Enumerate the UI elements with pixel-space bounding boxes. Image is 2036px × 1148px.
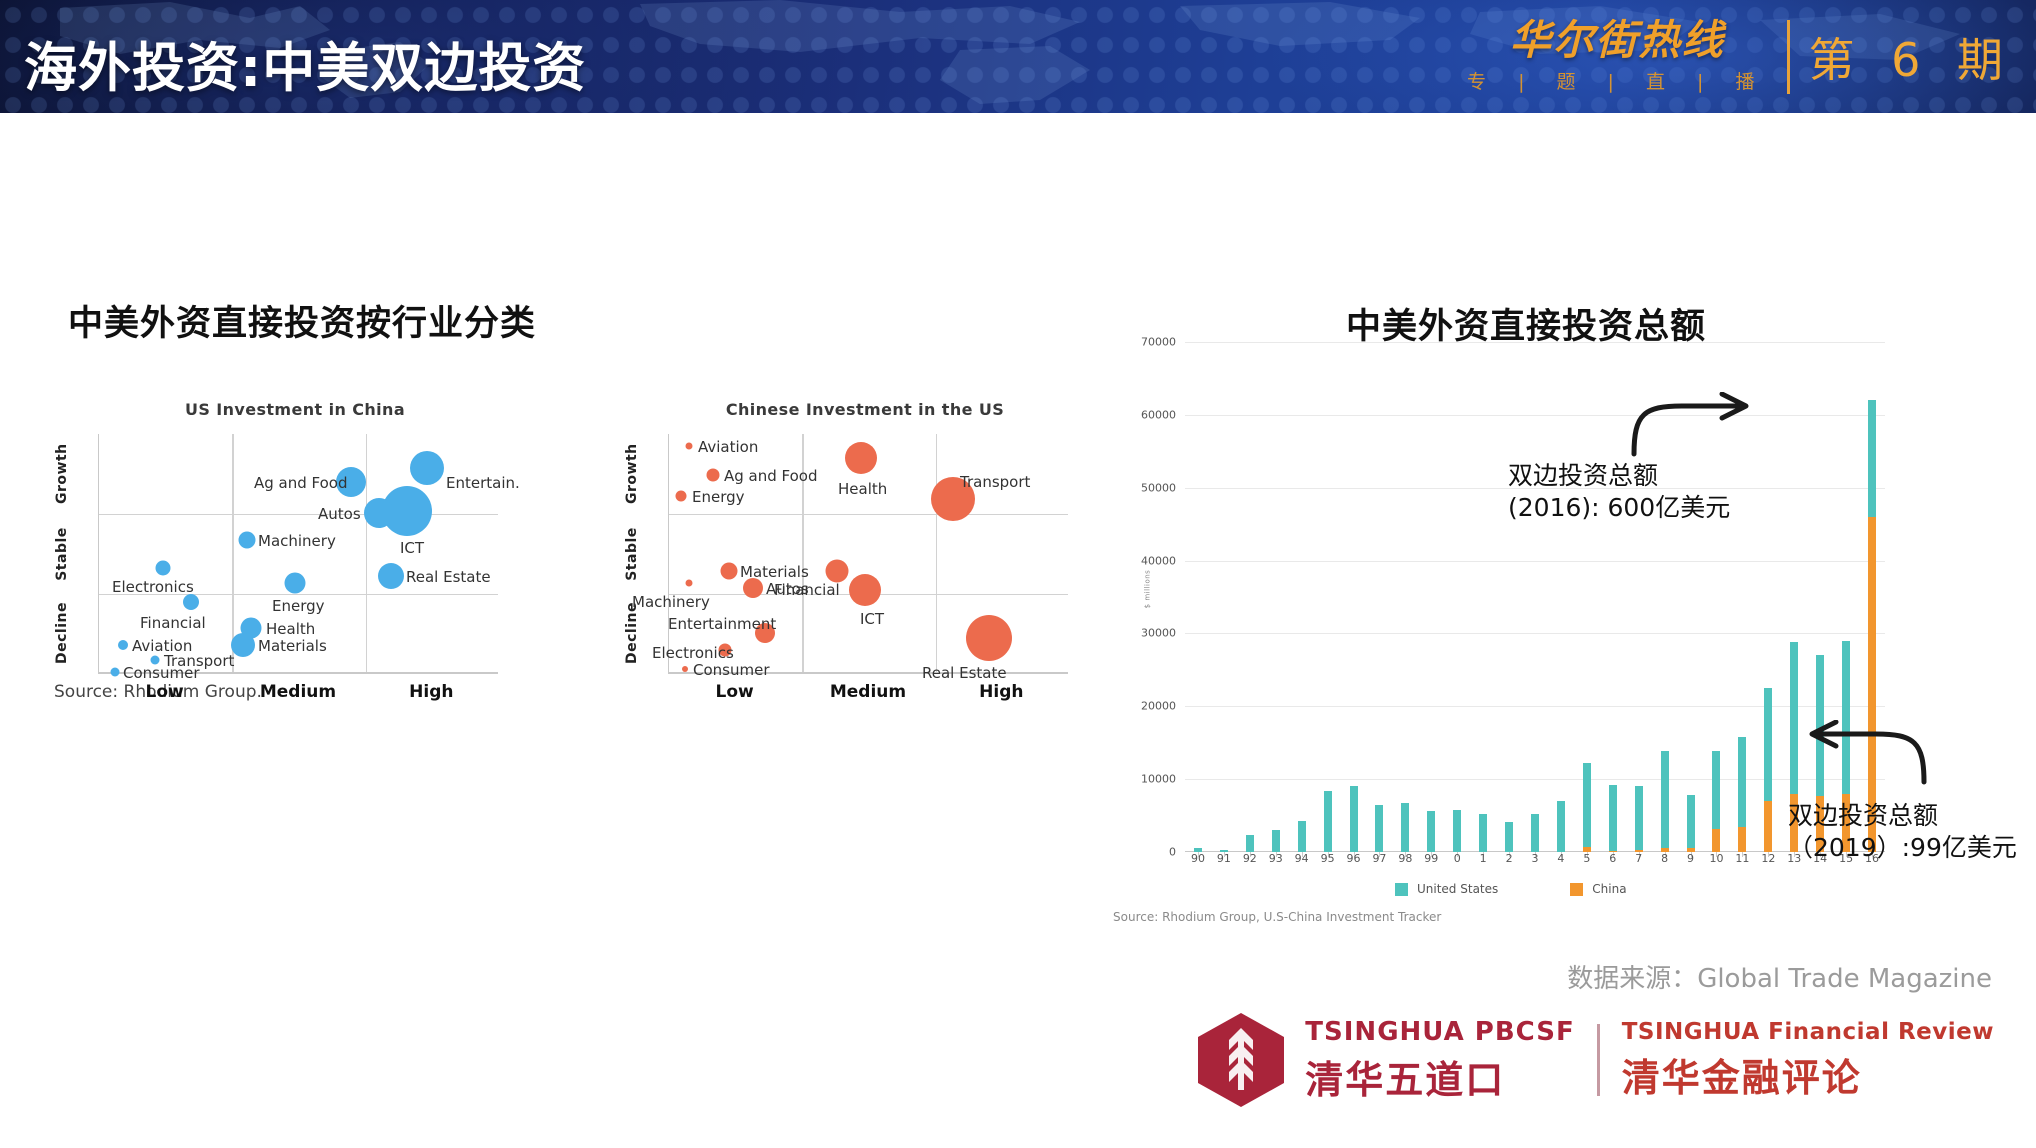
bar-segment-united-states — [1868, 400, 1876, 517]
logo-divider — [1597, 1024, 1600, 1096]
bubble-label: Materials — [740, 563, 809, 581]
x-axis-tick-label: 4 — [1557, 852, 1564, 865]
bubble-label: ICT — [860, 610, 884, 628]
brand-divider — [1787, 20, 1790, 94]
x-axis-tick-label: 90 — [1191, 852, 1205, 865]
footer-logos: TSINGHUA PBCSF 清华五道口 TSINGHUA Financial … — [1191, 1010, 1994, 1110]
bubble-label: Energy — [272, 597, 325, 615]
bar-segment-united-states — [1479, 814, 1487, 852]
pbcsf-cn: 清华五道口 — [1305, 1049, 1574, 1104]
brand-wordmark: 华尔街热线 专 | 题 | 直 | 播 — [1467, 20, 1767, 94]
bubble-label: Electronics — [112, 578, 194, 596]
x-axis-tick-label: 6 — [1609, 852, 1616, 865]
grid-line — [1185, 633, 1885, 634]
bar-segment-united-states — [1583, 763, 1591, 848]
grid-line-horizontal — [99, 514, 498, 515]
x-axis-tick-label: 92 — [1243, 852, 1257, 865]
legend-item-us: United States — [1395, 882, 1498, 896]
x-axis-tick-label: 9 — [1687, 852, 1694, 865]
x-axis-tick-label: 7 — [1635, 852, 1642, 865]
bubble-point — [285, 572, 306, 593]
y-axis-tick-label: 20000 — [1141, 700, 1176, 713]
bar-column — [1531, 814, 1539, 852]
bar-segment-united-states — [1350, 786, 1358, 852]
x-axis-tick-label: 1 — [1480, 852, 1487, 865]
bubble-point — [707, 468, 720, 481]
bar-segment-united-states — [1738, 737, 1746, 827]
chart-title: Chinese Investment in the US — [630, 400, 1100, 419]
bar-segment-united-states — [1246, 835, 1254, 852]
bar-column — [1661, 751, 1669, 852]
bar-plot-area: 0100002000030000400005000060000700009091… — [1185, 342, 1885, 852]
bubble-label: Financial — [140, 614, 206, 632]
bar-column — [1401, 803, 1409, 852]
legend-swatch-us — [1395, 883, 1408, 896]
chart-legend: United States China — [1395, 882, 1627, 896]
bubble-point — [966, 615, 1012, 661]
bubble-point — [364, 498, 394, 528]
x-axis-category-label: Medium — [801, 682, 934, 702]
bubble-label: Entertain. — [446, 474, 520, 492]
bubble-label: Ag and Food — [724, 467, 818, 485]
bar-column — [1375, 805, 1383, 852]
bubble-label: Health — [838, 480, 887, 498]
x-axis-tick-label: 12 — [1761, 852, 1775, 865]
bubble-label: Consumer — [693, 661, 770, 679]
bubble-label: Health — [266, 620, 315, 638]
footer-data-source: 数据来源：Global Trade Magazine — [1567, 958, 1992, 995]
x-axis-tick-label: 99 — [1424, 852, 1438, 865]
bubble-label: ICT — [400, 539, 424, 557]
bar-segment-united-states — [1453, 810, 1461, 852]
grid-line — [1185, 706, 1885, 707]
bar-segment-united-states — [1531, 814, 1539, 852]
bubble-label: Aviation — [698, 438, 758, 456]
bar-column — [1479, 814, 1487, 852]
bar-segment-united-states — [1427, 811, 1435, 852]
bubble-point — [156, 561, 171, 576]
bar-segment-united-states — [1272, 830, 1280, 852]
bubble-point — [231, 633, 255, 657]
x-axis-tick-label: 10 — [1709, 852, 1723, 865]
tsinghua-pbcsf-logo-icon — [1191, 1010, 1291, 1110]
bubble-point — [378, 563, 404, 589]
bar-column — [1583, 763, 1591, 852]
y-axis-category-label: Growth — [54, 444, 70, 504]
tfr-en: TSINGHUA Financial Review — [1622, 1019, 1994, 1045]
bubble-label: Electronics — [652, 644, 734, 662]
bubble-point — [682, 666, 688, 672]
annotation-peak-2016: 双边投资总额 (2016): 600亿美元 — [1508, 460, 1730, 523]
grid-line — [1185, 779, 1885, 780]
annotation-trough-2019: 双边投资总额 （2019）:99亿美元 — [1788, 800, 2017, 863]
tfr-wordmark: TSINGHUA Financial Review 清华金融评论 — [1622, 1019, 1994, 1102]
bubble-point — [410, 451, 444, 485]
chart-title: US Investment in China — [60, 400, 530, 419]
grid-line-vertical — [936, 434, 937, 674]
x-axis-tick-label: 91 — [1217, 852, 1231, 865]
bar-column — [1324, 791, 1332, 852]
x-axis-category-label: Low — [98, 682, 231, 702]
bubble-point — [845, 442, 877, 474]
grid-line — [1185, 415, 1885, 416]
bar-segment-united-states — [1557, 801, 1565, 852]
legend-item-china: China — [1570, 882, 1626, 896]
x-axis-tick-label: 2 — [1506, 852, 1513, 865]
bar-segment-united-states — [1505, 822, 1513, 852]
bar-column — [1557, 801, 1565, 852]
bubble-point — [676, 491, 687, 502]
bar-segment-china — [1712, 829, 1720, 852]
pbcsf-en: TSINGHUA PBCSF — [1305, 1017, 1574, 1047]
y-axis-tick-label: 10000 — [1141, 773, 1176, 786]
y-axis-tick-label: 60000 — [1141, 408, 1176, 421]
bar-segment-united-states — [1790, 642, 1798, 794]
bubble-label: Financial — [774, 581, 840, 599]
left-section-title: 中美外资直接投资按行业分类 — [68, 295, 536, 346]
bar-segment-united-states — [1712, 751, 1720, 828]
x-axis-category-label: Low — [668, 682, 801, 702]
bar-segment-united-states — [1687, 795, 1695, 847]
bubble-label: Transport — [960, 473, 1030, 491]
brand-lockup: 华尔街热线 专 | 题 | 直 | 播 第 6 期 — [1467, 12, 2014, 102]
legend-label-china: China — [1592, 882, 1626, 896]
y-axis-label: $ millions — [1143, 570, 1151, 609]
bubble-point — [239, 531, 256, 548]
bubble-point — [686, 443, 693, 450]
brand-main-text: 华尔街热线 — [1467, 20, 1767, 61]
bubble-point — [849, 574, 881, 606]
bar-column — [1453, 810, 1461, 852]
bubble-label: Autos — [318, 505, 361, 523]
grid-line — [1185, 342, 1885, 343]
bar-segment-united-states — [1661, 751, 1669, 848]
bar-column — [1505, 822, 1513, 852]
bubble-label: Materials — [258, 637, 327, 655]
x-axis-tick-label: 11 — [1735, 852, 1749, 865]
y-axis-tick-label: 40000 — [1141, 554, 1176, 567]
bar-chart-source: Source: Rhodium Group, U.S-China Investm… — [1113, 910, 1441, 924]
bubble-point — [826, 559, 849, 582]
x-axis-category-label: High — [935, 682, 1068, 702]
x-axis-tick-label: 8 — [1661, 852, 1668, 865]
bar-segment-united-states — [1375, 805, 1383, 852]
bar-segment-united-states — [1635, 786, 1643, 850]
legend-label-us: United States — [1417, 882, 1498, 896]
bubble-label: Ag and Food — [254, 474, 348, 492]
pbcsf-wordmark: TSINGHUA PBCSF 清华五道口 — [1305, 1017, 1574, 1104]
page-title: 海外投资:中美双边投资 — [24, 26, 586, 102]
us-investment-in-china-chart: US Investment in China Source: Rhodium G… — [60, 400, 530, 700]
grid-line-horizontal — [669, 514, 1068, 515]
bubble-point — [183, 594, 199, 610]
bar-column — [1687, 795, 1695, 852]
bar-segment-united-states — [1324, 791, 1332, 852]
x-axis-tick-label: 5 — [1583, 852, 1590, 865]
x-axis-tick-label: 95 — [1321, 852, 1335, 865]
bar-column — [1298, 821, 1306, 852]
bar-segment-united-states — [1401, 803, 1409, 852]
bar-column — [1738, 737, 1746, 852]
bubble-label: Real Estate — [922, 664, 1007, 682]
grid-line-vertical — [366, 434, 367, 674]
bar-column — [1712, 751, 1720, 852]
bar-column — [1427, 811, 1435, 852]
y-axis-category-label: Growth — [624, 444, 640, 504]
legend-swatch-china — [1570, 883, 1583, 896]
x-axis-tick-label: 97 — [1372, 852, 1386, 865]
brand-sub-text: 专 | 题 | 直 | 播 — [1467, 67, 1767, 94]
header-banner: 海外投资:中美双边投资 华尔街热线 专 | 题 | 直 | 播 第 6 期 — [0, 0, 2036, 113]
bubble-label: Consumer — [123, 664, 200, 682]
bar-segment-united-states — [1609, 785, 1617, 851]
tfr-cn: 清华金融评论 — [1622, 1047, 1994, 1102]
bar-segment-china — [1738, 827, 1746, 853]
x-axis-category-label: High — [365, 682, 498, 702]
bar-column — [1609, 785, 1617, 852]
bubble-label: Energy — [692, 488, 745, 506]
arrow-pointing-to-2016-bar — [1630, 392, 1760, 462]
bubble-label: Machinery — [632, 593, 710, 611]
x-axis-tick-label: 98 — [1398, 852, 1412, 865]
bar-column — [1635, 786, 1643, 852]
y-axis-tick-label: 30000 — [1141, 627, 1176, 640]
bubble-point — [118, 640, 128, 650]
bubble-point — [111, 667, 120, 676]
x-axis-tick-label: 3 — [1532, 852, 1539, 865]
bubble-point — [721, 562, 738, 579]
y-axis-category-label: Stable — [624, 524, 640, 584]
bubble-label: Real Estate — [406, 568, 491, 586]
bubble-label: Machinery — [258, 532, 336, 550]
x-axis-tick-label: 93 — [1269, 852, 1283, 865]
arrow-pointing-to-2019-bar — [1800, 720, 1930, 790]
y-axis-category-label: Stable — [54, 524, 70, 584]
bar-column — [1764, 688, 1772, 852]
y-axis-category-label: Decline — [624, 604, 640, 664]
bar-segment-china — [1764, 801, 1772, 852]
y-axis-tick-label: 70000 — [1141, 336, 1176, 349]
bubble-point — [686, 579, 693, 586]
y-axis-category-label: Decline — [54, 604, 70, 664]
x-axis-tick-label: 0 — [1454, 852, 1461, 865]
x-axis-category-label: Medium — [231, 682, 364, 702]
bar-column — [1246, 835, 1254, 852]
issue-number: 第 6 期 — [1808, 24, 2014, 90]
x-axis-tick-label: 96 — [1347, 852, 1361, 865]
y-axis-tick-label: 0 — [1169, 846, 1176, 859]
grid-line — [1185, 561, 1885, 562]
bubble-label: Entertainment — [668, 615, 776, 633]
x-axis-tick-label: 94 — [1295, 852, 1309, 865]
bar-segment-united-states — [1764, 688, 1772, 801]
chinese-investment-in-us-chart: Chinese Investment in the US GrowthStabl… — [630, 400, 1100, 700]
bar-column — [1350, 786, 1358, 852]
y-axis-tick-label: 50000 — [1141, 481, 1176, 494]
bar-segment-united-states — [1298, 821, 1306, 852]
bar-column — [1272, 830, 1280, 852]
